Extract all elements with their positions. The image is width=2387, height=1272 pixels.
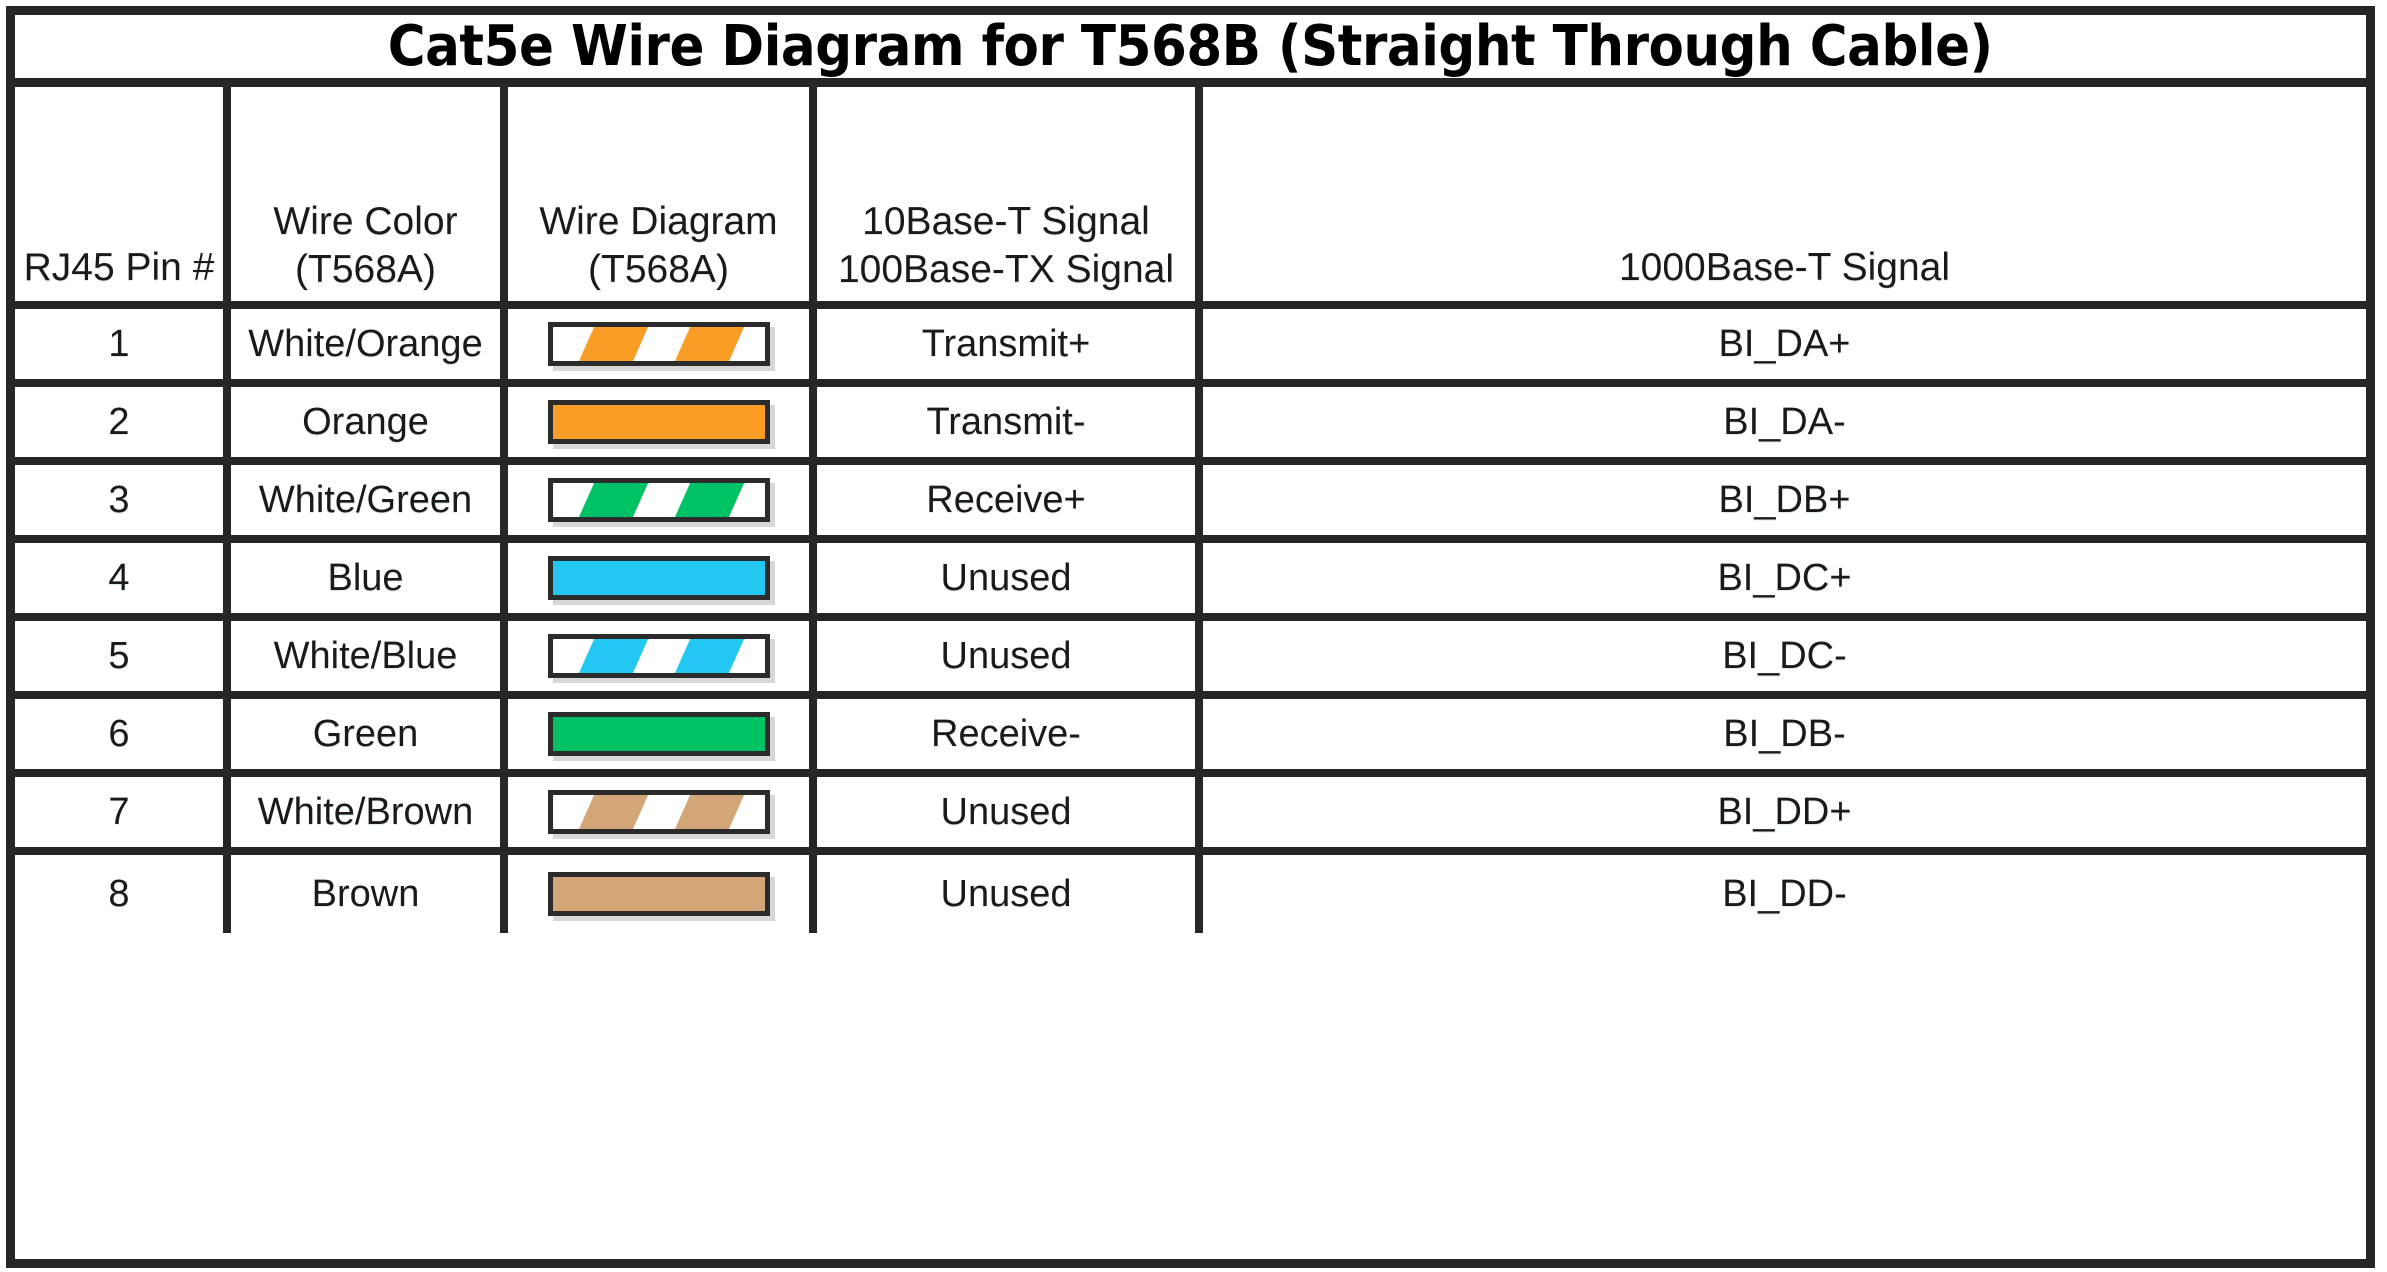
header-cell-signal-10-100: 10Base-T Signal 100Base-TX Signal [817,87,1203,301]
pin-number-value: 8 [108,872,129,917]
wiring-table: RJ45 Pin # Wire Color (T568A) Wire Diagr… [15,87,2366,1259]
wire-swatch-striped [548,790,770,834]
cell-signal-10-100: Transmit+ [817,309,1203,379]
header-label-pin: RJ45 Pin # [24,244,215,295]
signal-1000-value: BI_DA+ [1718,322,1850,367]
signal-10-100-value: Receive- [931,712,1081,757]
wire-swatch-base [553,405,765,439]
wire-stripe-band [673,795,750,829]
pin-number-value: 6 [108,712,129,757]
cell-wire-diagram [508,387,817,457]
header-label-signal-1000: 1000Base-T Signal [1619,244,1950,295]
table-body: 1White/OrangeTransmit+BI_DA+2OrangeTrans… [15,309,2366,933]
cell-signal-1000: BI_DC+ [1203,543,2366,613]
cell-pin-number: 8 [15,855,231,933]
cell-signal-1000: BI_DB- [1203,699,2366,769]
wire-swatch-solid [548,400,770,444]
signal-1000-value: BI_DD- [1722,872,1847,917]
table-row: 1White/OrangeTransmit+BI_DA+ [15,309,2366,387]
cell-signal-1000: BI_DD- [1203,855,2366,933]
cell-signal-10-100: Unused [817,777,1203,847]
wire-stripe-band [577,795,654,829]
signal-1000-value: BI_DC- [1722,634,1847,679]
cell-wire-diagram [508,621,817,691]
cell-wire-diagram [508,777,817,847]
cell-wire-diagram [508,699,817,769]
table-frame: Cat5e Wire Diagram for T568B (Straight T… [6,6,2375,1268]
cell-signal-1000: BI_DC- [1203,621,2366,691]
cell-wire-color: White/Blue [231,621,508,691]
wire-swatch-base [553,561,765,595]
header-label-signal-10-100: 10Base-T Signal 100Base-TX Signal [838,198,1174,296]
cell-pin-number: 2 [15,387,231,457]
table-row: 7White/BrownUnusedBI_DD+ [15,777,2366,855]
cell-wire-diagram [508,543,817,613]
cell-signal-1000: BI_DA- [1203,387,2366,457]
wire-swatch-solid [548,556,770,600]
wire-diagram-sheet: Cat5e Wire Diagram for T568B (Straight T… [0,0,2387,1272]
pin-number-value: 2 [108,400,129,445]
header-cell-signal-1000: 1000Base-T Signal [1203,87,2366,301]
wire-swatch-solid [548,872,770,916]
cell-wire-diagram [508,465,817,535]
signal-1000-value: BI_DC+ [1717,556,1851,601]
wire-swatch-solid [548,712,770,756]
wire-color-value: Green [313,712,419,757]
signal-10-100-value: Transmit+ [922,322,1091,367]
title-row: Cat5e Wire Diagram for T568B (Straight T… [15,15,2366,87]
table-row: 2OrangeTransmit-BI_DA- [15,387,2366,465]
cell-wire-color: White/Orange [231,309,508,379]
cell-signal-1000: BI_DB+ [1203,465,2366,535]
signal-1000-value: BI_DB+ [1718,478,1850,523]
signal-10-100-value: Unused [941,790,1072,835]
cell-signal-1000: BI_DD+ [1203,777,2366,847]
table-row: 5White/BlueUnusedBI_DC- [15,621,2366,699]
pin-number-value: 7 [108,790,129,835]
header-label-wire-color: Wire Color (T568A) [273,198,457,296]
cell-wire-color: Orange [231,387,508,457]
cell-signal-10-100: Unused [817,621,1203,691]
signal-10-100-value: Unused [941,872,1072,917]
cell-wire-diagram [508,309,817,379]
table-row: 6GreenReceive-BI_DB- [15,699,2366,777]
wire-color-value: Orange [302,400,429,445]
cell-signal-10-100: Unused [817,855,1203,933]
page-title: Cat5e Wire Diagram for T568B (Straight T… [388,19,1993,75]
wire-stripe-band [673,327,750,361]
signal-1000-value: BI_DA- [1723,400,1845,445]
signal-1000-value: BI_DB- [1723,712,1845,757]
cell-signal-1000: BI_DA+ [1203,309,2366,379]
cell-pin-number: 4 [15,543,231,613]
wire-stripe-band [673,483,750,517]
cell-pin-number: 6 [15,699,231,769]
header-cell-wire-color: Wire Color (T568A) [231,87,508,301]
wire-swatch-stripes [553,327,765,361]
cell-wire-diagram [508,855,817,933]
wire-stripe-band [577,639,654,673]
wire-stripe-band [673,639,750,673]
wire-stripe-band [577,483,654,517]
wire-swatch-stripes [553,639,765,673]
pin-number-value: 4 [108,556,129,601]
wire-swatch-striped [548,322,770,366]
pin-number-value: 1 [108,322,129,367]
cell-wire-color: Blue [231,543,508,613]
cell-signal-10-100: Transmit- [817,387,1203,457]
table-row: 3White/GreenReceive+BI_DB+ [15,465,2366,543]
signal-10-100-value: Transmit- [926,400,1085,445]
pin-number-value: 5 [108,634,129,679]
cell-wire-color: White/Brown [231,777,508,847]
cell-signal-10-100: Receive+ [817,465,1203,535]
signal-1000-value: BI_DD+ [1717,790,1851,835]
cell-pin-number: 3 [15,465,231,535]
table-row: 4BlueUnusedBI_DC+ [15,543,2366,621]
wire-color-value: White/Green [259,478,472,523]
wire-swatch-base [553,877,765,911]
pin-number-value: 3 [108,478,129,523]
cell-pin-number: 5 [15,621,231,691]
cell-pin-number: 1 [15,309,231,379]
wire-stripe-band [577,327,654,361]
cell-wire-color: Brown [231,855,508,933]
signal-10-100-value: Unused [941,556,1072,601]
wire-color-value: White/Brown [258,790,473,835]
header-label-wire-diagram: Wire Diagram (T568A) [539,198,777,296]
cell-signal-10-100: Unused [817,543,1203,613]
header-cell-pin: RJ45 Pin # [15,87,231,301]
wire-color-value: Blue [327,556,403,601]
wire-swatch-striped [548,634,770,678]
signal-10-100-value: Receive+ [926,478,1085,523]
wire-swatch-stripes [553,483,765,517]
cell-wire-color: Green [231,699,508,769]
table-header-row: RJ45 Pin # Wire Color (T568A) Wire Diagr… [15,87,2366,309]
table-row: 8BrownUnusedBI_DD- [15,855,2366,933]
header-cell-wire-diagram: Wire Diagram (T568A) [508,87,817,301]
wire-swatch-striped [548,478,770,522]
signal-10-100-value: Unused [941,634,1072,679]
wire-swatch-stripes [553,795,765,829]
wire-color-value: Brown [312,872,420,917]
cell-signal-10-100: Receive- [817,699,1203,769]
cell-wire-color: White/Green [231,465,508,535]
cell-pin-number: 7 [15,777,231,847]
wire-color-value: White/Orange [248,322,482,367]
wire-swatch-base [553,717,765,751]
wire-color-value: White/Blue [274,634,458,679]
